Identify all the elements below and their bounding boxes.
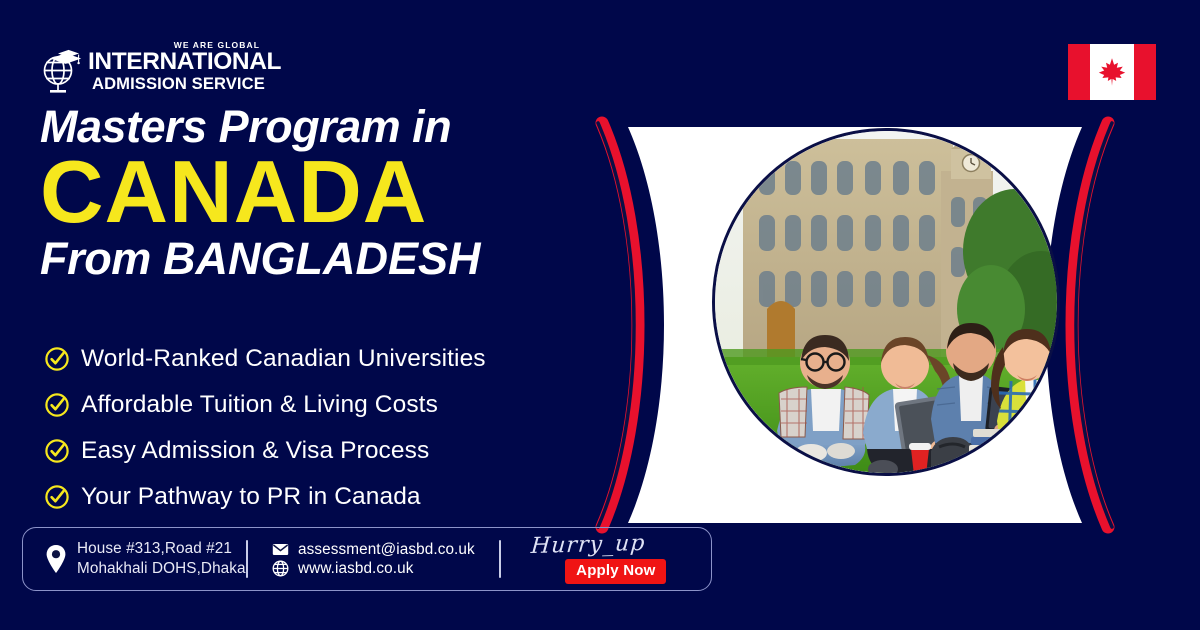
website-value: www.iasbd.co.uk (298, 560, 413, 578)
address-line2: Mohakhali DOHS,Dhaka (77, 559, 246, 579)
maple-leaf-icon (1097, 56, 1127, 88)
list-item-label: Your Pathway to PR in Canada (81, 483, 421, 511)
headline-line2: CANADA (40, 151, 570, 234)
list-item-label: Easy Admission & Visa Process (81, 437, 429, 465)
list-item: Your Pathway to PR in Canada (44, 474, 564, 520)
email-value: assessment@iasbd.co.uk (298, 541, 475, 559)
address-lines: House #313,Road #21 Mohakhali DOHS,Dhaka (77, 539, 246, 578)
address-block: House #313,Road #21 Mohakhali DOHS,Dhaka (23, 528, 246, 590)
list-item: Easy Admission & Visa Process (44, 428, 564, 474)
feature-list: World-Ranked Canadian Universities Affor… (44, 336, 564, 520)
brand-name-line2: ADMISSION SERVICE (92, 76, 265, 93)
email-row[interactable]: assessment@iasbd.co.uk (272, 541, 475, 559)
map-pin-icon (45, 544, 67, 574)
flag-band-left (1068, 44, 1090, 100)
students-on-campus-lawn-photo (712, 128, 1060, 476)
hurry-up-script-text: Hurry_up (530, 531, 646, 559)
brand-logo-text: WE ARE GLOBAL INTERNATIONAL ADMISSION SE… (90, 40, 266, 98)
page-title: Masters Program in CANADA From BANGLADES… (40, 104, 570, 281)
brand-name-line1: INTERNATIONAL (88, 50, 281, 75)
envelope-icon (272, 541, 289, 558)
check-circle-icon (44, 484, 70, 510)
contact-bar: House #313,Road #21 Mohakhali DOHS,Dhaka… (22, 527, 712, 591)
globe-graduation-cap-icon (34, 42, 90, 98)
headline-line3-prefix: From (40, 233, 163, 284)
flag-band-right (1134, 44, 1156, 100)
headline-line3-bold: BANGLADESH (163, 233, 481, 284)
list-item-label: World-Ranked Canadian Universities (81, 345, 486, 373)
contact-links: assessment@iasbd.co.uk www (248, 528, 475, 590)
check-circle-icon (44, 392, 70, 418)
list-item-label: Affordable Tuition & Living Costs (81, 391, 438, 419)
apply-now-button[interactable]: Apply Now (565, 559, 666, 583)
globe-icon (272, 560, 289, 577)
promo-banner: WE ARE GLOBAL INTERNATIONAL ADMISSION SE… (0, 0, 1200, 630)
cta-block: Hurry_up Apply Now (501, 528, 666, 590)
list-item: Affordable Tuition & Living Costs (44, 382, 564, 428)
check-circle-icon (44, 346, 70, 372)
address-line1: House #313,Road #21 (77, 539, 246, 559)
check-circle-icon (44, 438, 70, 464)
canada-flag (1068, 44, 1156, 100)
website-row[interactable]: www.iasbd.co.uk (272, 560, 475, 578)
brand-logo[interactable]: WE ARE GLOBAL INTERNATIONAL ADMISSION SE… (34, 38, 264, 100)
hero-visual (580, 115, 1180, 535)
list-item: World-Ranked Canadian Universities (44, 336, 564, 382)
headline-line3: From BANGLADESH (40, 236, 570, 281)
